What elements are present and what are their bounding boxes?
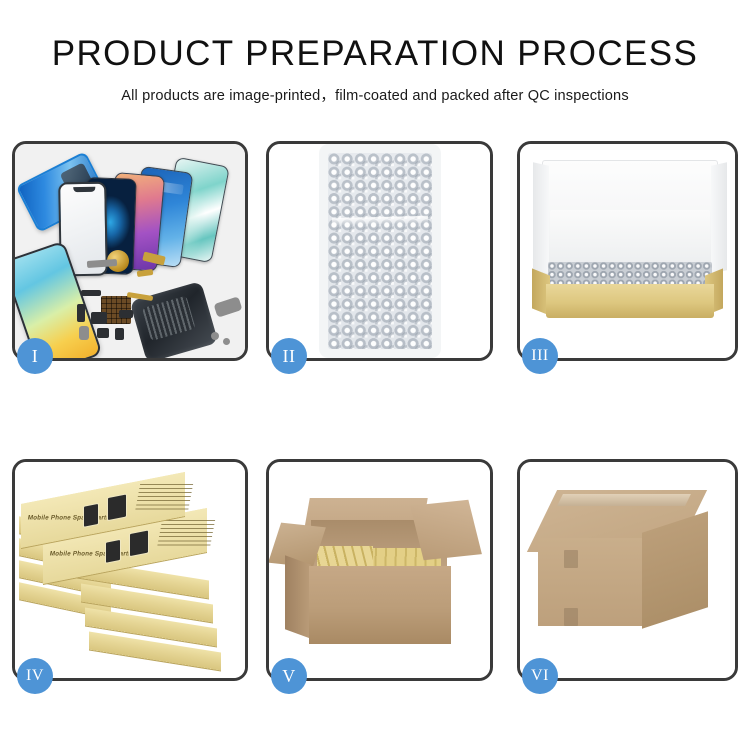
step-2-image bbox=[269, 144, 490, 358]
step-badge-6: VI bbox=[522, 658, 558, 694]
part-tool-icon bbox=[213, 296, 242, 317]
carton-front-face-icon bbox=[538, 538, 642, 626]
part-sensor-icon bbox=[119, 310, 133, 318]
carton-handle-tab-icon bbox=[564, 550, 578, 568]
mailer-front-panel-icon bbox=[546, 284, 714, 318]
box-thumbnail-icon bbox=[83, 503, 99, 528]
product-preparation-process-page: PRODUCT PREPARATION PROCESS All products… bbox=[0, 0, 750, 750]
step-badge-5: V bbox=[271, 658, 307, 694]
step-panel-3-open-mailer: III bbox=[517, 141, 738, 361]
open-carton-scene bbox=[269, 462, 490, 678]
step-6-image bbox=[520, 462, 735, 678]
carton-handle-tab-lower-icon bbox=[564, 608, 578, 626]
box-thumbnail-icon bbox=[129, 529, 149, 557]
carton-side-left-icon bbox=[285, 555, 311, 638]
part-bracket-icon bbox=[77, 304, 85, 322]
phone-backplate-icon bbox=[130, 281, 219, 358]
part-connector-icon bbox=[81, 290, 101, 296]
step-panel-6-sealed-carton: VI bbox=[517, 459, 738, 681]
part-block-icon bbox=[91, 312, 107, 324]
part-screw-small-icon bbox=[223, 338, 230, 345]
box-spec-lines-icon bbox=[157, 520, 215, 549]
carton-front-panel-icon bbox=[309, 566, 451, 644]
packing-tape-icon bbox=[557, 494, 691, 506]
foam-insert-icon bbox=[550, 210, 710, 260]
part-speaker-icon bbox=[115, 328, 124, 340]
step-panel-1-phone-parts: I bbox=[12, 141, 248, 361]
step-5-image bbox=[269, 462, 490, 678]
step-3-image bbox=[520, 144, 735, 358]
box-thumbnail-icon bbox=[107, 493, 127, 521]
carton-side-face-icon bbox=[642, 511, 708, 628]
stacked-boxes-scene: Mobile Phone Spare Parts Mobile Phone Sp… bbox=[15, 462, 245, 678]
process-steps-grid: I II III bbox=[0, 0, 750, 750]
part-battery-icon bbox=[79, 326, 89, 340]
step-badge-2: II bbox=[271, 338, 307, 374]
step-4-image: Mobile Phone Spare Parts Mobile Phone Sp… bbox=[15, 462, 245, 678]
step-1-image bbox=[15, 144, 245, 358]
part-camera-icon bbox=[97, 328, 109, 338]
box-thumbnail-icon bbox=[105, 539, 121, 564]
step-badge-4: IV bbox=[17, 658, 53, 694]
step-panel-5-open-carton: V bbox=[266, 459, 493, 681]
step-panel-2-bubble-wrap: II bbox=[266, 141, 493, 361]
box-spec-lines-icon bbox=[135, 484, 193, 513]
open-mailer-scene bbox=[520, 144, 735, 358]
carton-flap-right-icon bbox=[410, 500, 482, 560]
bubble-wrap-scene bbox=[269, 144, 490, 358]
phone-parts-scene bbox=[15, 144, 245, 358]
part-screw-icon bbox=[211, 332, 219, 340]
step-panel-4-stacked-boxes: Mobile Phone Spare Parts Mobile Phone Sp… bbox=[12, 459, 248, 681]
bubble-wrap-pouch-icon bbox=[328, 153, 432, 349]
part-gold-small-icon bbox=[137, 269, 154, 277]
sealed-carton-scene bbox=[520, 462, 735, 678]
step-badge-1: I bbox=[17, 338, 53, 374]
step-badge-3: III bbox=[522, 338, 558, 374]
